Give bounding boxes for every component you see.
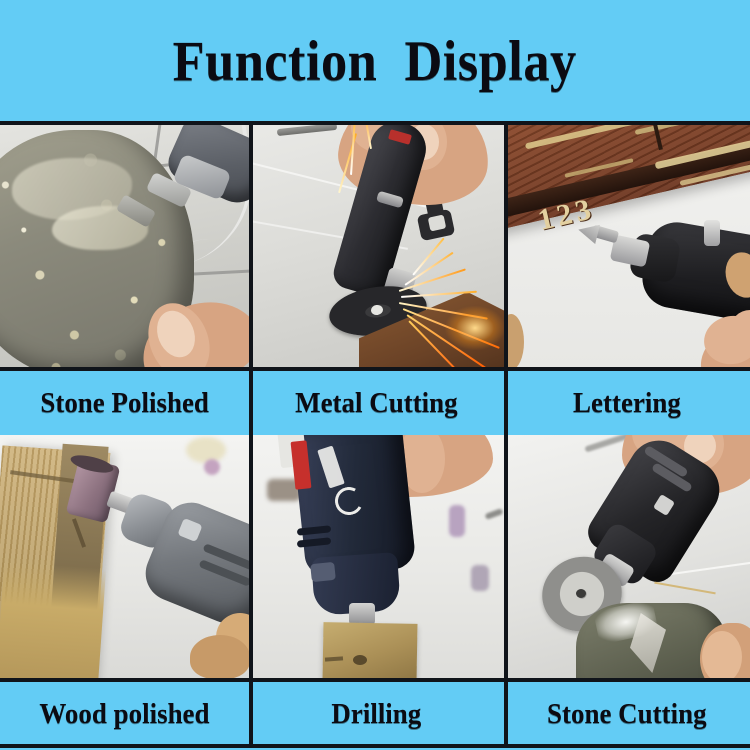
photo-stone-polished xyxy=(0,124,249,367)
photo-lettering: 123 xyxy=(504,124,750,367)
caption-label: Stone Cutting xyxy=(547,698,707,731)
photo-stone-cutting xyxy=(504,435,750,678)
caption-band: Metal Cutting xyxy=(249,367,504,435)
function-grid: Stone Polished xyxy=(0,124,750,746)
photo-drilling xyxy=(249,435,504,678)
background-accessory xyxy=(471,565,489,591)
background-accessory xyxy=(449,505,465,537)
footer-divider xyxy=(0,744,750,748)
grid-row-2: Wood polished xyxy=(0,435,750,746)
caption-label: Lettering xyxy=(573,387,681,420)
caption-label: Stone Polished xyxy=(40,387,209,420)
caption-band: Stone Polished xyxy=(0,367,249,435)
finger xyxy=(190,635,249,678)
wood-sanded-area xyxy=(0,562,106,678)
wood-block-workpiece xyxy=(323,622,418,678)
photo-metal-cutting xyxy=(249,124,504,367)
column-divider xyxy=(249,124,253,435)
spark-glow xyxy=(445,306,504,350)
function-cell-stone-cutting[interactable]: Stone Cutting xyxy=(504,435,750,746)
function-cell-drilling[interactable]: Drilling xyxy=(249,435,504,746)
function-cell-stone-polished[interactable]: Stone Polished xyxy=(0,124,249,435)
function-cell-metal-cutting[interactable]: Metal Cutting xyxy=(249,124,504,435)
background-accessory xyxy=(186,437,226,463)
column-divider xyxy=(249,435,253,746)
caption-band: Stone Cutting xyxy=(504,678,750,746)
function-cell-lettering[interactable]: 123 Lettering xyxy=(504,124,750,435)
caption-label: Drilling xyxy=(332,698,422,731)
caption-band: Wood polished xyxy=(0,678,249,746)
caption-label: Wood polished xyxy=(39,698,209,731)
photo-wood-polished xyxy=(0,435,249,678)
column-divider xyxy=(504,124,508,435)
spindle-lock-button xyxy=(310,562,336,582)
background-accessory xyxy=(204,459,220,475)
grid-row-1: Stone Polished xyxy=(0,124,750,435)
caption-band: Lettering xyxy=(504,367,750,435)
page-title: Function Display xyxy=(173,33,577,90)
finger xyxy=(702,631,742,678)
drilled-hole xyxy=(353,655,367,665)
caption-label: Metal Cutting xyxy=(295,387,458,420)
header-divider xyxy=(0,121,750,125)
function-display-poster: Function Display xyxy=(0,0,750,750)
caption-band: Drilling xyxy=(249,678,504,746)
poster-header: Function Display xyxy=(0,0,750,122)
column-divider xyxy=(504,435,508,746)
disc-arbor-hole xyxy=(576,589,586,598)
function-cell-wood-polished[interactable]: Wood polished xyxy=(0,435,249,746)
spindle-lock-button xyxy=(704,220,720,246)
